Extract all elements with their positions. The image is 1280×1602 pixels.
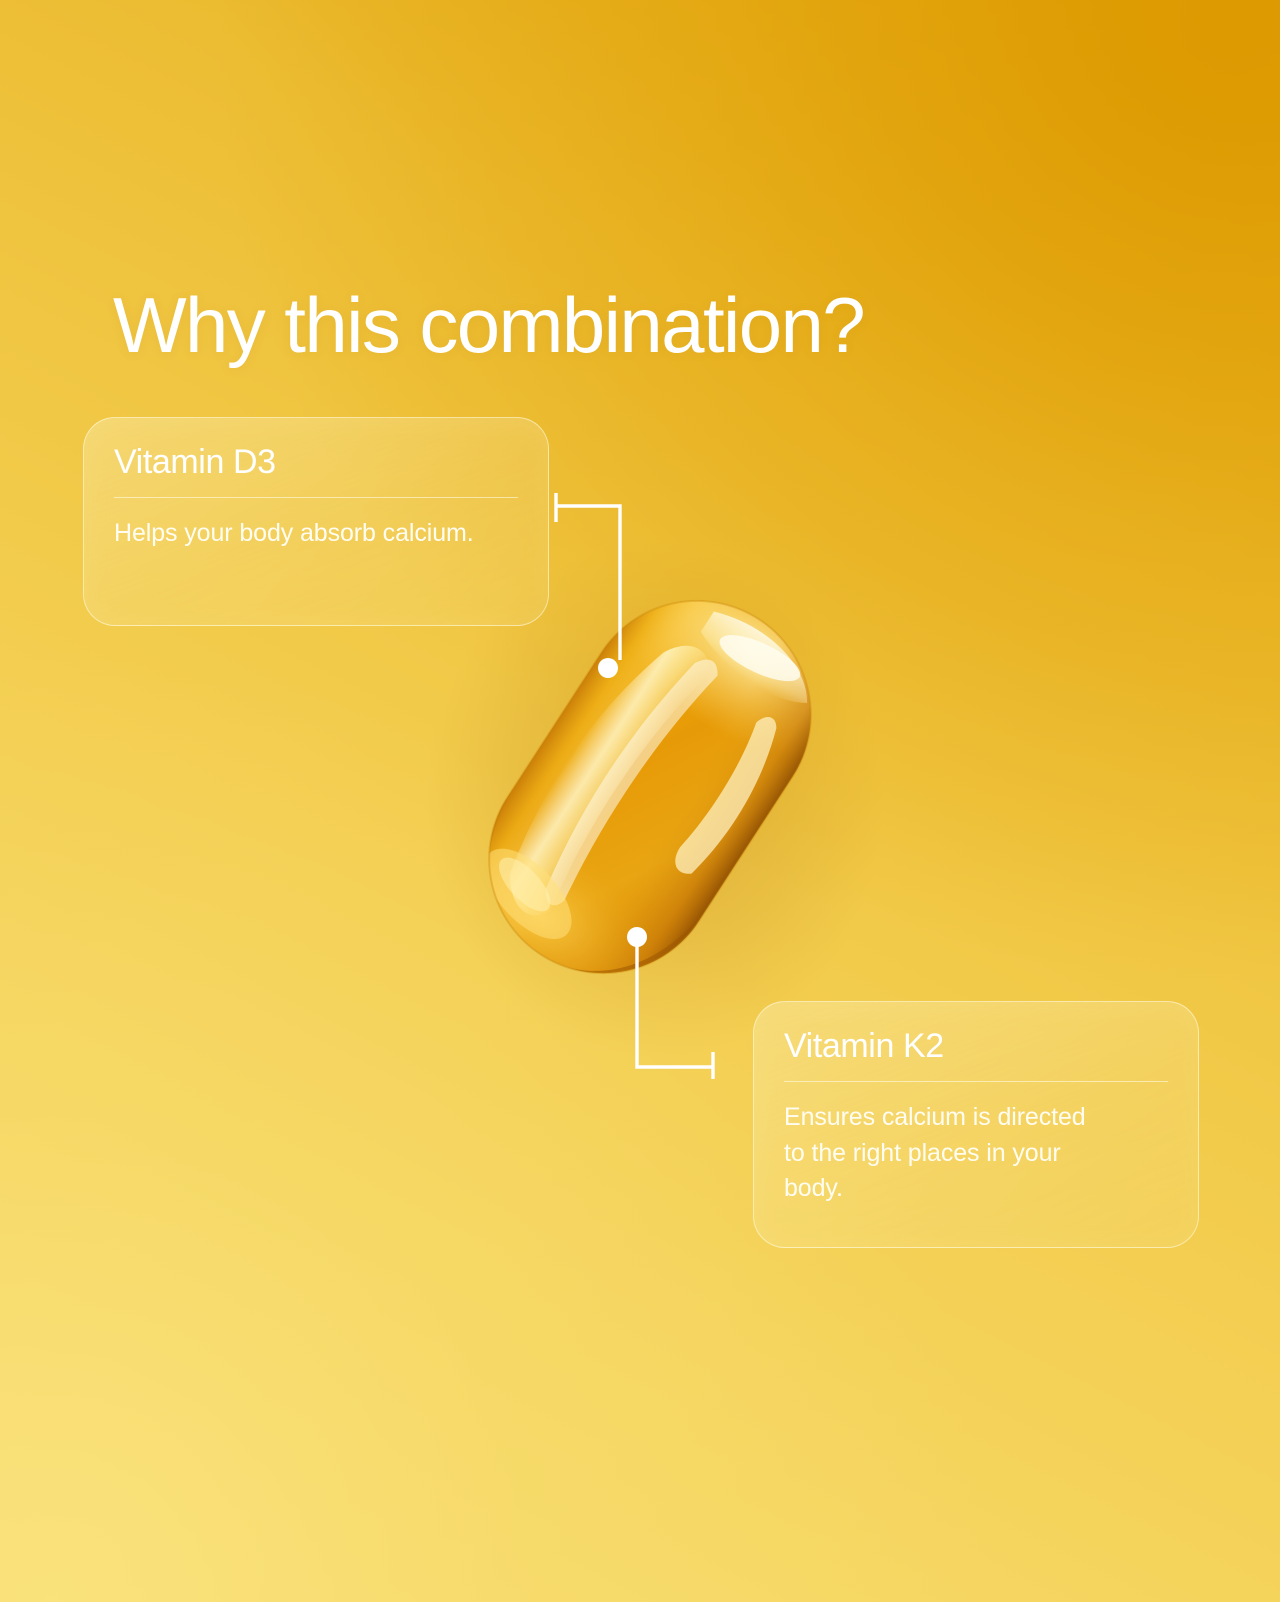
- connector-d3-dot: [598, 658, 618, 678]
- card-divider: [784, 1081, 1168, 1082]
- connector-k2-path: [637, 946, 712, 1067]
- card-divider: [114, 497, 518, 498]
- info-card-body: Helps your body absorb calcium.: [114, 508, 494, 552]
- page-title: Why this combination?: [113, 286, 1193, 364]
- connector-d3-path: [556, 506, 620, 660]
- connector-lines: [0, 0, 1280, 1602]
- info-card-title: Vitamin K2: [784, 1028, 1168, 1081]
- info-card-body: Ensures calcium is directed to the right…: [784, 1092, 1094, 1207]
- promo-graphic: Why this combination? Vitamin D3 Helps y…: [0, 0, 1280, 1602]
- connector-k2-dot: [627, 927, 647, 947]
- info-card-vitamin-k2: Vitamin K2 Ensures calcium is directed t…: [753, 1001, 1199, 1248]
- softgel-capsule: [0, 0, 1280, 1602]
- info-card-title: Vitamin D3: [114, 444, 518, 497]
- info-card-vitamin-d3: Vitamin D3 Helps your body absorb calciu…: [83, 417, 549, 626]
